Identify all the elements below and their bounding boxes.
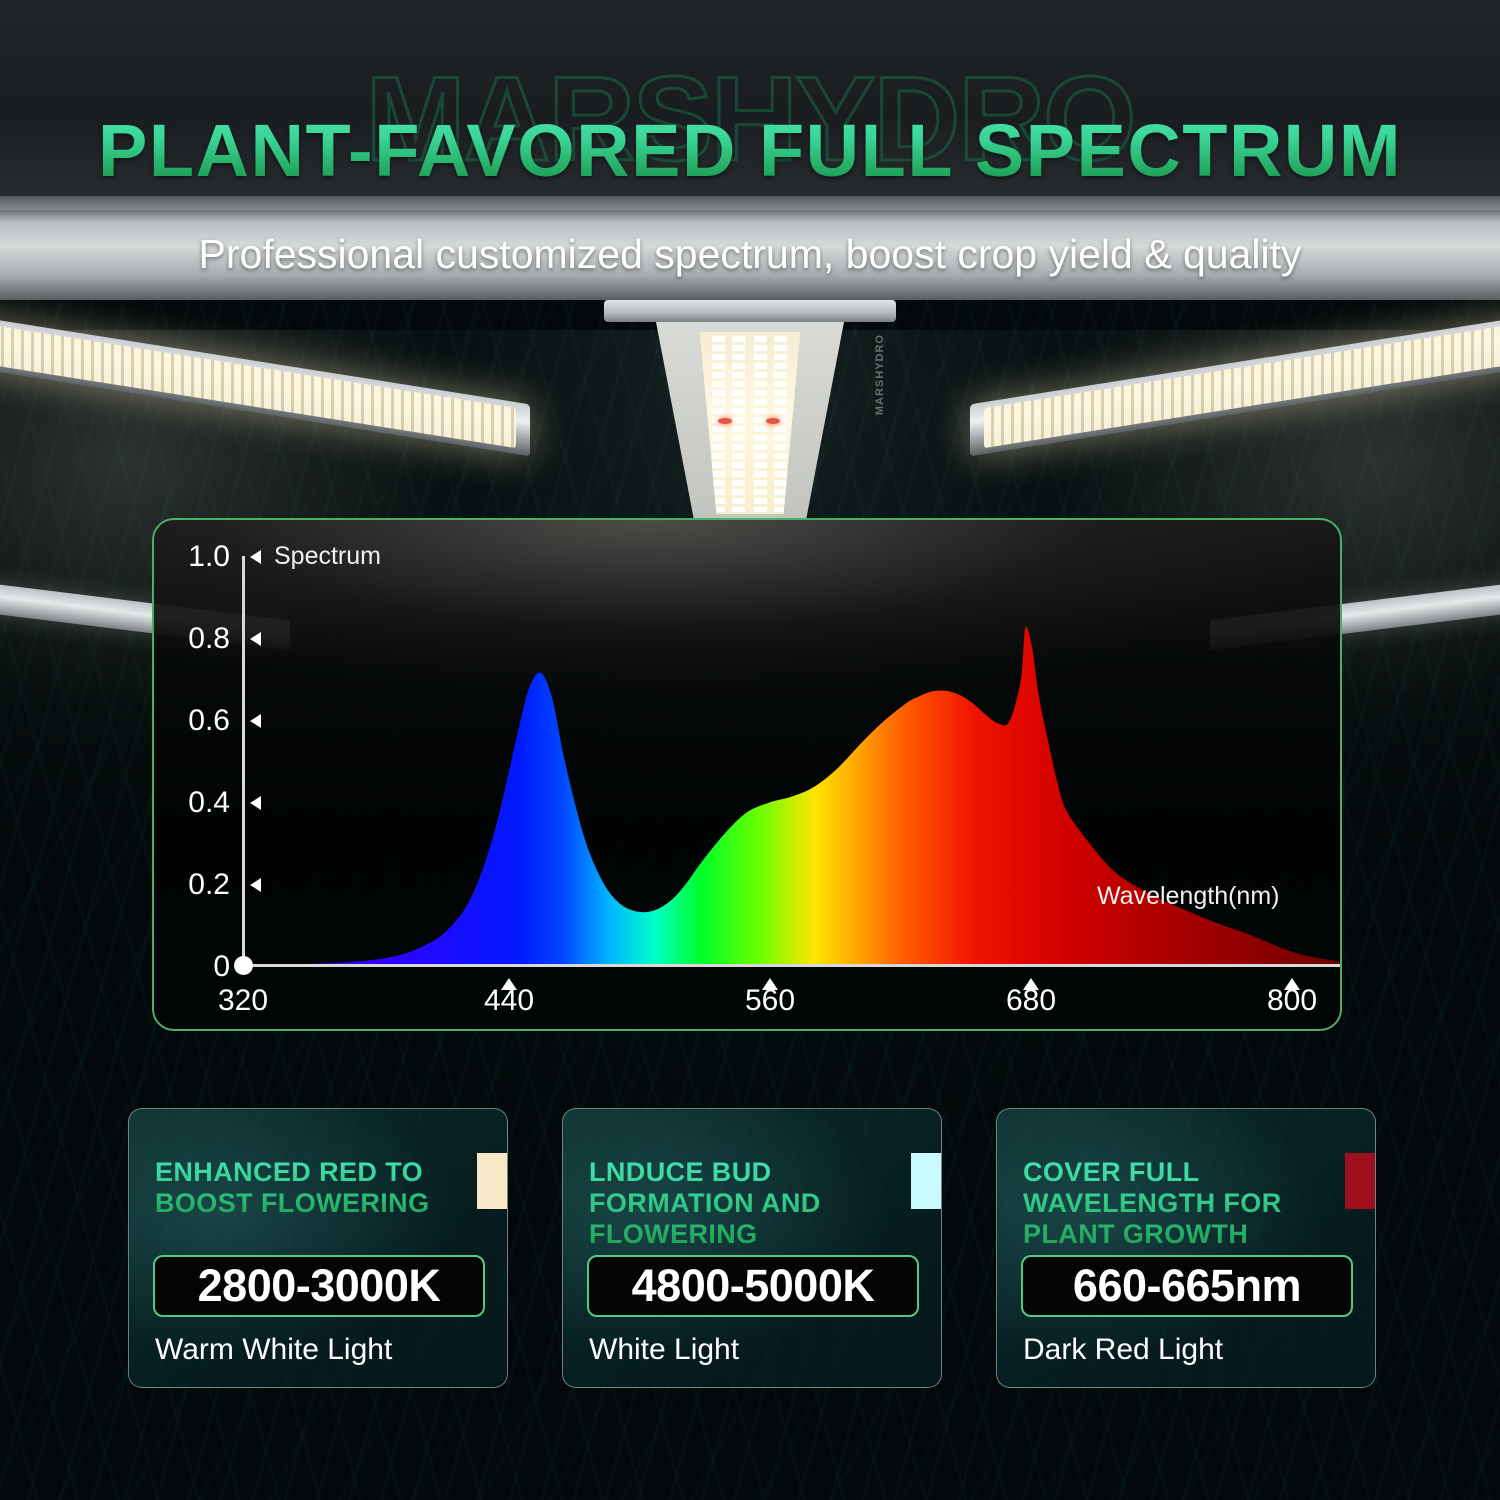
- y-tick-label-0-4: 0.4: [168, 786, 230, 820]
- feature-card-dark-red[interactable]: COVER FULL WAVELENGTH FOR PLANT GROWTH 6…: [996, 1108, 1376, 1388]
- y-tick-marker: [250, 632, 261, 646]
- red-led-indicator: [766, 418, 780, 424]
- card-subtitle: Warm White Light: [155, 1333, 392, 1367]
- y-tick-marker: [250, 550, 261, 564]
- y-tick-marker: [250, 714, 261, 728]
- origin-marker: [234, 956, 253, 975]
- card-subtitle: Dark Red Light: [1023, 1333, 1223, 1367]
- card-value: 4800-5000K: [632, 1260, 875, 1312]
- card-heading: LNDUCE BUD FORMATION AND FLOWERING: [589, 1157, 941, 1249]
- spectrum-plot: [154, 520, 1342, 1031]
- fixture-brand-logo: MARSHYDRO: [874, 334, 886, 415]
- y-axis-line: [242, 556, 245, 966]
- card-value-pill: 4800-5000K: [587, 1255, 919, 1317]
- page-subtitle: Professional customized spectrum, boost …: [0, 231, 1500, 278]
- y-tick-label-0-2: 0.2: [168, 868, 230, 902]
- card-subtitle: White Light: [589, 1333, 739, 1367]
- y-tick-marker: [250, 796, 261, 810]
- led-chip-row: [774, 336, 787, 512]
- x-tick-label-680: 680: [976, 984, 1086, 1018]
- spectrum-chart-panel: 1.0 0.8 0.6 0.4 0.2 0 Spectrum Wavelengt…: [152, 518, 1342, 1031]
- red-led-indicator: [718, 418, 732, 424]
- x-axis-line: [242, 964, 1340, 967]
- card-value: 2800-3000K: [198, 1260, 441, 1312]
- spectrum-area: [243, 627, 1341, 965]
- y-tick-label-1-0: 1.0: [168, 540, 230, 574]
- warm-white-swatch: [477, 1153, 507, 1209]
- card-heading: COVER FULL WAVELENGTH FOR PLANT GROWTH: [1023, 1157, 1375, 1249]
- x-tick-label-440: 440: [454, 984, 564, 1018]
- x-axis-title: Wavelength(nm): [1097, 882, 1279, 911]
- led-chip-row: [732, 336, 745, 512]
- y-tick-label-0-6: 0.6: [168, 704, 230, 738]
- x-tick-label-560: 560: [715, 984, 825, 1018]
- y-tick-marker: [250, 878, 261, 892]
- card-heading: ENHANCED RED TO BOOST FLOWERING: [155, 1157, 507, 1219]
- y-tick-label-0-8: 0.8: [168, 622, 230, 656]
- y-tick-label-0: 0: [168, 950, 230, 984]
- header: MARSHYDRO PLANT-FAVORED FULL SPECTRUM Pr…: [0, 0, 1500, 300]
- card-value-pill: 2800-3000K: [153, 1255, 485, 1317]
- feature-card-warm-white[interactable]: ENHANCED RED TO BOOST FLOWERING 2800-300…: [128, 1108, 508, 1388]
- y-axis-title: Spectrum: [274, 542, 381, 571]
- x-tick-label-800: 800: [1237, 984, 1342, 1018]
- card-value-pill: 660-665nm: [1021, 1255, 1353, 1317]
- fixture-hanger: [604, 300, 896, 322]
- white-swatch: [911, 1153, 941, 1209]
- center-grow-light-fixture: MARSHYDRO: [600, 300, 900, 530]
- card-value: 660-665nm: [1073, 1260, 1301, 1312]
- led-chip-row: [712, 336, 725, 512]
- feature-card-white[interactable]: LNDUCE BUD FORMATION AND FLOWERING 4800-…: [562, 1108, 942, 1388]
- feature-cards: ENHANCED RED TO BOOST FLOWERING 2800-300…: [128, 1108, 1376, 1388]
- page-title: PLANT-FAVORED FULL SPECTRUM: [0, 108, 1500, 193]
- dark-red-swatch: [1345, 1153, 1375, 1209]
- x-tick-label-320: 320: [188, 984, 298, 1018]
- led-chip-row: [754, 336, 767, 512]
